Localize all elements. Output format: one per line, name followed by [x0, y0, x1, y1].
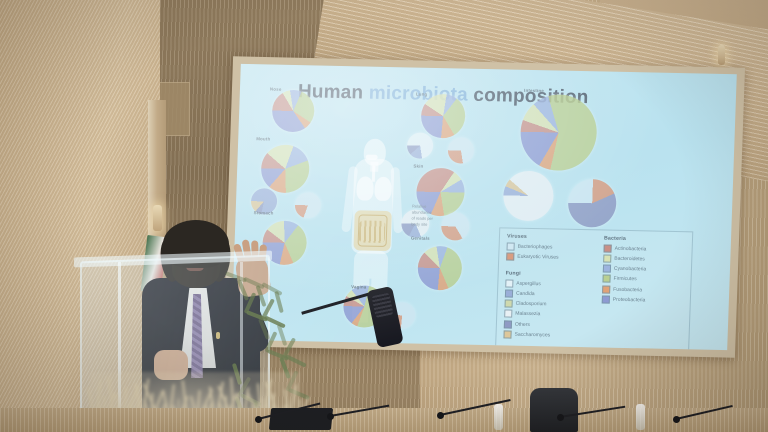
pie-intestine-bacteria — [519, 94, 598, 172]
legend-item-bacteriophages[interactable]: Bacteriophages — [507, 242, 560, 251]
water-bottle-2[interactable] — [636, 404, 645, 430]
chart-legend: VirusesBacteriophagesEukaryotic VirusesF… — [495, 227, 693, 350]
legend-swatch — [603, 265, 611, 273]
site-label-skin: Skin — [413, 164, 423, 169]
legend-item-bacteroidetes[interactable]: Bacteroidetes — [603, 254, 647, 263]
legend-item-eukaryotic-viruses[interactable]: Eukaryotic Viruses — [506, 252, 559, 261]
legend-swatch — [503, 331, 511, 339]
plant-leaf — [285, 354, 307, 367]
legend-item-saccharomyces[interactable]: Saccharomyces — [503, 331, 556, 340]
site-label-stomach: Stomach — [254, 210, 274, 215]
legend-column-left: VirusesBacteriophagesEukaryotic VirusesF… — [503, 233, 559, 341]
legend-swatch — [507, 242, 515, 250]
legend-label: Aspergillus — [516, 280, 541, 287]
pie-skin-viruses — [441, 212, 470, 241]
legend-label: Proteobacteria — [613, 297, 646, 304]
legend-swatch — [505, 279, 513, 287]
legend-item-candida[interactable]: Candida — [505, 289, 558, 298]
legend-swatch — [602, 285, 610, 293]
legend-item-actinobacteria[interactable]: Actinobacteria — [604, 244, 648, 253]
legend-label: Actinobacteria — [615, 245, 647, 252]
pie-lung-viruses — [448, 137, 475, 164]
legend-swatch — [505, 289, 513, 297]
laptop[interactable] — [269, 408, 333, 430]
body-mouth — [366, 155, 378, 160]
wall-light-right — [718, 45, 725, 65]
legend-label: Others — [515, 321, 530, 327]
body-trachea — [372, 166, 376, 182]
legend-swatch — [602, 275, 610, 283]
plant-leaf — [261, 282, 282, 296]
site-label-vagina: Vagina — [351, 284, 367, 289]
conference-chair[interactable] — [530, 388, 578, 432]
plant-leaf — [264, 316, 286, 329]
legend-heading-fungi: Fungi — [506, 271, 559, 278]
body-lung-left — [356, 176, 374, 200]
pie-intestine-fungi — [503, 170, 555, 221]
legend-swatch — [603, 254, 611, 262]
legend-swatch — [506, 252, 514, 260]
water-bottle-1[interactable] — [494, 404, 503, 430]
legend-item-cladosporium[interactable]: Cladosporium — [505, 300, 558, 309]
screenshot-root: Human microbiota composition NoseMouthSt… — [0, 0, 768, 432]
legend-label: Malassezia — [515, 311, 540, 318]
legend-label: Fusobacteria — [613, 286, 642, 293]
front-table — [0, 408, 768, 432]
table-microphone-head[interactable] — [327, 413, 334, 420]
legend-swatch — [504, 320, 512, 328]
legend-item-others[interactable]: Others — [504, 320, 557, 329]
abundance-note-line: body site — [411, 221, 433, 227]
legend-label: Candida — [516, 291, 535, 297]
table-microphone-head[interactable] — [557, 414, 564, 421]
table-microphone-head[interactable] — [255, 416, 262, 423]
site-label-mouth: Mouth — [256, 136, 270, 141]
pie-mouth-viruses — [294, 192, 321, 219]
pie-lung-fungi — [407, 132, 434, 159]
legend-label: Firmicutes — [613, 276, 636, 282]
legend-label: Bacteroidetes — [614, 256, 645, 263]
site-label-lung: Lung — [416, 92, 428, 97]
legend-swatch — [604, 244, 612, 252]
table-microphone-head[interactable] — [437, 412, 444, 419]
legend-label: Eukaryotic Viruses — [517, 254, 559, 261]
legend-swatch — [505, 300, 513, 308]
pie-intestine-viruses — [567, 179, 617, 228]
legend-swatch — [504, 310, 512, 318]
legend-column-right: BacteriaActinobacteriaBacteroidetesCyano… — [602, 236, 648, 307]
abundance-note: Relativeabundanceof reads perbody site — [411, 203, 433, 227]
pie-mouth-bacteria — [260, 144, 310, 193]
legend-item-malassezia[interactable]: Malassezia — [504, 310, 557, 319]
pie-genitals-bacteria — [417, 246, 463, 291]
legend-heading-viruses: Viruses — [507, 233, 560, 240]
presentation-slide: Human microbiota composition NoseMouthSt… — [231, 64, 737, 350]
legend-heading-bacteria: Bacteria — [604, 236, 648, 243]
legend-label: Cyanobacteria — [614, 266, 646, 273]
legend-label: Bacteriophages — [518, 243, 553, 250]
legend-item-firmicutes[interactable]: Firmicutes — [602, 275, 646, 284]
projection-screen: Human microbiota composition NoseMouthSt… — [231, 64, 737, 350]
plant-leaf — [274, 291, 284, 313]
pie-nose-bacteria — [272, 90, 315, 133]
legend-item-aspergillus[interactable]: Aspergillus — [505, 279, 558, 288]
legend-item-cyanobacteria[interactable]: Cyanobacteria — [603, 265, 647, 274]
legend-swatch — [602, 295, 610, 303]
site-label-nose: Nose — [270, 87, 282, 92]
body-head — [363, 138, 386, 165]
body-intestine-coils — [359, 220, 386, 243]
pie-lung-bacteria — [420, 94, 466, 139]
site-label-intestine: Intestine — [524, 88, 544, 93]
table-microphone-head[interactable] — [673, 416, 680, 423]
legend-item-proteobacteria[interactable]: Proteobacteria — [602, 295, 646, 304]
site-label-genitals: Genitals — [411, 235, 430, 240]
body-lung-right — [374, 177, 392, 201]
legend-label: Cladosporium — [516, 301, 547, 308]
legend-item-fusobacteria[interactable]: Fusobacteria — [602, 285, 646, 294]
legend-label: Saccharomyces — [514, 332, 550, 339]
